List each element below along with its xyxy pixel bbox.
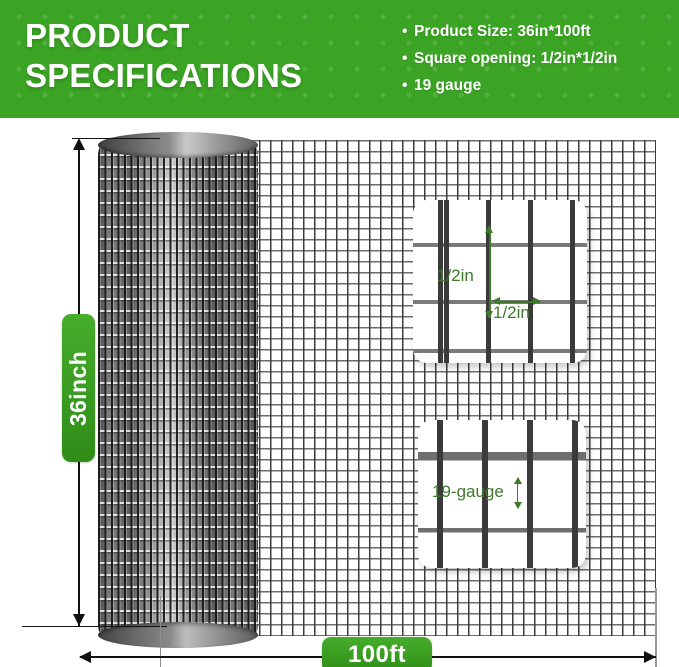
height-label-text: 36inch	[65, 350, 92, 425]
bullet-icon: •	[402, 45, 414, 72]
page-title-line-1: PRODUCT	[25, 17, 190, 54]
arrow-right-icon	[533, 297, 541, 305]
arrow-right-icon	[644, 651, 656, 663]
width-label-badge: 100ft	[322, 637, 432, 667]
list-item: • Square opening: 1/2in*1/2in	[402, 45, 674, 72]
specification-list: • Product Size: 36in*100ft • Square open…	[402, 18, 674, 99]
extension-line-top	[72, 138, 160, 139]
arrow-left-icon	[79, 651, 91, 663]
page-title: PRODUCT SPECIFICATIONS	[25, 16, 385, 96]
opening-width-label: 1/2in	[493, 303, 530, 323]
roll-body	[98, 142, 258, 638]
arrow-down-icon	[514, 502, 522, 509]
wire-gauge-label: 19-gauge	[432, 482, 504, 502]
wire-gauge-callout: 19-gauge	[418, 420, 586, 568]
height-label-badge: 36inch	[62, 314, 95, 462]
list-item: • Product Size: 36in*100ft	[402, 18, 674, 45]
page-title-line-2: SPECIFICATIONS	[25, 56, 385, 96]
opening-height-label: 1/2in	[437, 266, 474, 286]
extension-line-bottom	[22, 626, 167, 627]
arrow-up-icon	[514, 477, 522, 484]
spec-text-gauge: 19 gauge	[414, 72, 481, 99]
bullet-icon: •	[402, 18, 414, 45]
width-label-text: 100ft	[348, 641, 406, 667]
arrow-down-icon	[485, 311, 493, 319]
arrow-up-icon	[73, 138, 85, 150]
arrow-up-icon	[485, 225, 493, 233]
spec-text-square-opening: Square opening: 1/2in*1/2in	[414, 45, 617, 72]
spec-text-product-size: Product Size: 36in*100ft	[414, 18, 591, 45]
list-item: • 19 gauge	[402, 72, 674, 99]
vertical-measure-line	[489, 228, 491, 318]
square-opening-callout: 1/2in 1/2in	[413, 200, 587, 363]
bullet-icon: •	[402, 72, 414, 99]
header-banner: PRODUCT SPECIFICATIONS • Product Size: 3…	[0, 0, 679, 118]
arrow-down-icon	[73, 614, 85, 626]
wire-mesh-roll	[98, 132, 258, 646]
roll-top-ellipse	[98, 132, 258, 158]
product-specification-infographic: PRODUCT SPECIFICATIONS • Product Size: 3…	[0, 0, 679, 667]
product-diagram: 36inch 100ft 1/2in 1/2in 19-gauge	[0, 118, 679, 667]
